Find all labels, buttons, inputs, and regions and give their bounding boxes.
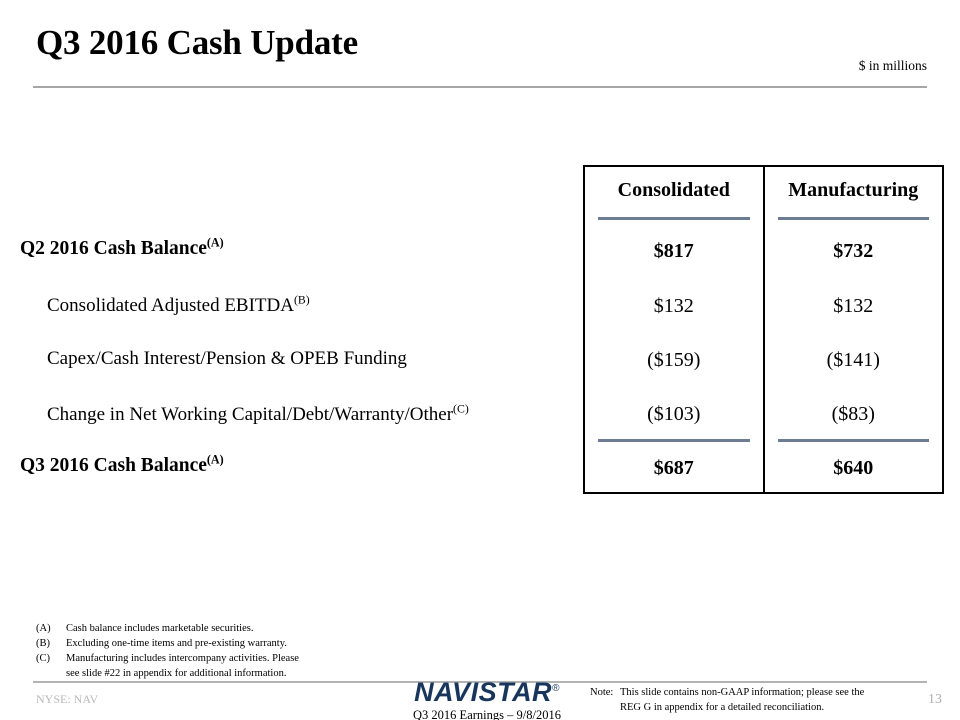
cell-consolidated-working-capital: ($103) — [585, 403, 763, 426]
footnote-c: (C) Manufacturing includes intercompany … — [36, 652, 299, 667]
footnote-b-text: Excluding one-time items and pre-existin… — [66, 637, 299, 652]
cell-manufacturing-q2-cash-balance: $732 — [765, 240, 943, 263]
cell-consolidated-q3-cash-balance: $687 — [585, 457, 763, 480]
row-label-capex-cash-interest-pension-opeb: Capex/Cash Interest/Pension & OPEB Fundi… — [47, 349, 407, 368]
navistar-logo: NAVISTAR® — [414, 679, 560, 706]
header-divider — [33, 86, 927, 88]
row-label-text: Q2 2016 Cash Balance — [20, 238, 207, 259]
cell-manufacturing-capex: ($141) — [765, 349, 943, 372]
navistar-wordmark-text: NAVISTAR — [414, 677, 552, 707]
footnote-c-text: Manufacturing includes intercompany acti… — [66, 652, 299, 667]
row-label-q3-cash-balance: Q3 2016 Cash Balance(A) — [20, 456, 224, 476]
cell-consolidated-q2-cash-balance: $817 — [585, 240, 763, 263]
note-text-line1: This slide contains non-GAAP information… — [620, 685, 864, 700]
column-header-consolidated: Consolidated — [585, 179, 763, 202]
units-label: $ in millions — [859, 58, 927, 74]
registered-trademark-icon: ® — [552, 683, 560, 694]
row-label-text: Q3 2016 Cash Balance — [20, 455, 207, 476]
footnote-a: (A) Cash balance includes marketable sec… — [36, 622, 299, 637]
column-header-rule — [598, 217, 750, 220]
column-subtotal-rule — [598, 439, 750, 442]
note-marker: Note: — [590, 685, 620, 700]
cell-manufacturing-ebitda: $132 — [765, 295, 943, 318]
table-column-consolidated: Consolidated $817 $132 ($159) ($103) $68… — [585, 167, 763, 492]
cell-consolidated-capex: ($159) — [585, 349, 763, 372]
navistar-logo-block: NAVISTAR® Q3 2016 Earnings – 9/8/2016 — [392, 679, 582, 720]
column-subtotal-rule — [778, 439, 930, 442]
row-label-text: Capex/Cash Interest/Pension & OPEB Fundi… — [47, 348, 407, 369]
note-text-line2: REG G in appendix for a detailed reconci… — [590, 700, 864, 715]
cash-table: Consolidated $817 $132 ($159) ($103) $68… — [583, 165, 944, 494]
footnotes-block: (A) Cash balance includes marketable sec… — [36, 622, 299, 682]
column-header-rule — [778, 217, 930, 220]
table-column-manufacturing: Manufacturing $732 $132 ($141) ($83) $64… — [763, 167, 943, 492]
row-label-text: Change in Net Working Capital/Debt/Warra… — [47, 404, 453, 425]
footnote-c-continuation: see slide #22 in appendix for additional… — [36, 667, 299, 682]
row-label-change-net-working-capital: Change in Net Working Capital/Debt/Warra… — [47, 405, 469, 424]
cell-manufacturing-q3-cash-balance: $640 — [765, 457, 943, 480]
presentation-subtitle: Q3 2016 Earnings – 9/8/2016 — [392, 708, 582, 720]
page-title: Q3 2016 Cash Update — [36, 24, 358, 63]
row-label-q2-cash-balance: Q2 2016 Cash Balance(A) — [20, 239, 224, 259]
cell-consolidated-ebitda: $132 — [585, 295, 763, 318]
non-gaap-note: Note: This slide contains non-GAAP infor… — [590, 685, 864, 715]
stock-ticker-label: NYSE: NAV — [36, 692, 98, 707]
footnote-b: (B) Excluding one-time items and pre-exi… — [36, 637, 299, 652]
row-label-consolidated-adjusted-ebitda: Consolidated Adjusted EBITDA(B) — [47, 296, 310, 315]
footnote-ref-a: (A) — [207, 236, 224, 250]
footnote-ref-c: (C) — [453, 403, 469, 416]
footnote-a-marker: (A) — [36, 622, 66, 637]
row-label-text: Consolidated Adjusted EBITDA — [47, 295, 294, 316]
slide-number: 13 — [928, 692, 942, 708]
note-first-line: Note: This slide contains non-GAAP infor… — [590, 685, 864, 700]
column-header-manufacturing: Manufacturing — [765, 179, 943, 202]
slide-canvas: Q3 2016 Cash Update $ in millions Q2 201… — [0, 0, 960, 720]
footnote-ref-a: (A) — [207, 453, 224, 467]
footnote-a-text: Cash balance includes marketable securit… — [66, 622, 299, 637]
footnote-c-marker: (C) — [36, 652, 66, 667]
footnote-b-marker: (B) — [36, 637, 66, 652]
cell-manufacturing-working-capital: ($83) — [765, 403, 943, 426]
footnote-ref-b: (B) — [294, 294, 310, 307]
